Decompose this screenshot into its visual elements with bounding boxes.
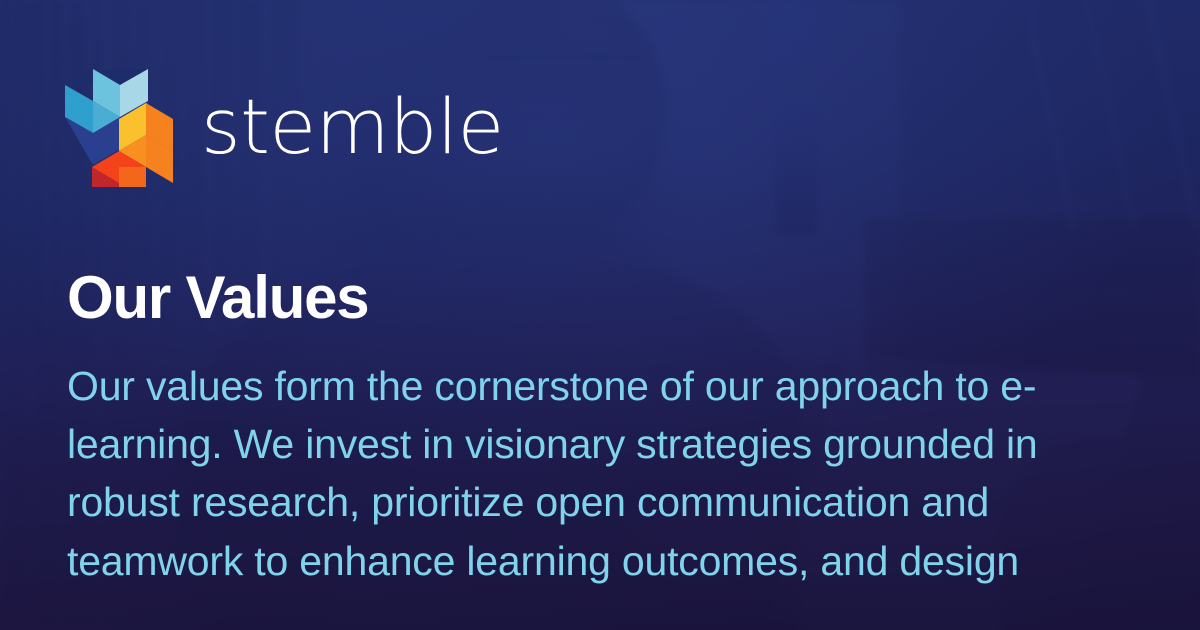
page-title: Our Values [67,268,1133,328]
stemble-logo-icon[interactable] [65,65,173,187]
brand-lockup[interactable]: stemble [67,62,1133,190]
description-text: Our values form the cornerstone of our a… [67,357,1079,590]
stemble-wordmark: stemble [201,89,504,165]
social-share-card: stemble Our Values Our values form the c… [0,0,1200,630]
card-content: stemble Our Values Our values form the c… [0,0,1200,630]
